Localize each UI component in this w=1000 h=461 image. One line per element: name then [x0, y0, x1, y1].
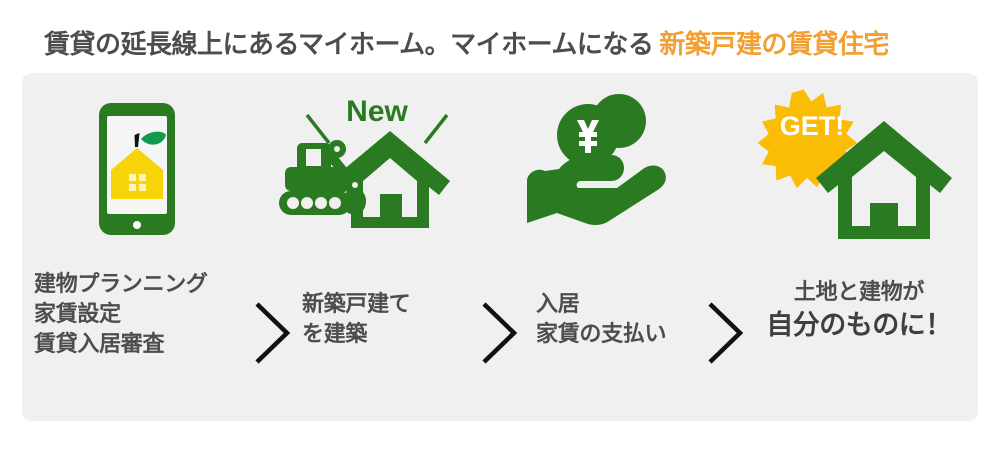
flow-step-4-label: 土地と建物が 自分のものに！ — [740, 277, 978, 343]
page-title: 賃貸の延長線上にあるマイホーム。マイホームになる新築戸建の賃貸住宅 — [44, 27, 889, 61]
flow-step-4: GET! 土地と建物が 自分のものに！ — [740, 73, 978, 421]
smartphone-house-icon — [22, 73, 252, 273]
flow-step-4-emphasis: 自分のものに！ — [740, 307, 978, 343]
flow-step-1-label: 建物プランニング 家賃設定 賃貸入居審査 — [22, 269, 264, 359]
new-badge-label: New — [346, 95, 408, 128]
flow-step-1-line-1: 建物プランニング — [34, 269, 264, 299]
hand-yen-coin-icon — [500, 73, 700, 273]
flow-step-4-line-1: 土地と建物が — [740, 277, 978, 307]
flow-step-3: 入居 家賃の支払い — [500, 73, 700, 421]
flow-step-1-line-3: 賃貸入居審査 — [34, 329, 264, 359]
flow-step-1: 建物プランニング 家賃設定 賃貸入居審査 — [22, 73, 252, 421]
get-badge-label: GET! — [780, 111, 845, 141]
get-badge-house-icon: GET! — [740, 73, 978, 273]
flow-infographic: 賃貸の延長線上にあるマイホーム。マイホームになる新築戸建の賃貸住宅 — [0, 0, 1000, 461]
flow-step-2: New — [272, 73, 482, 421]
headline-plain-text: 賃貸の延長線上にあるマイホーム。マイホームになる — [44, 29, 653, 59]
headline-accent-text: 新築戸建の賃貸住宅 — [659, 29, 889, 59]
excavator-new-house-icon: New — [272, 73, 482, 273]
flow-step-1-line-2: 家賃設定 — [34, 299, 264, 329]
